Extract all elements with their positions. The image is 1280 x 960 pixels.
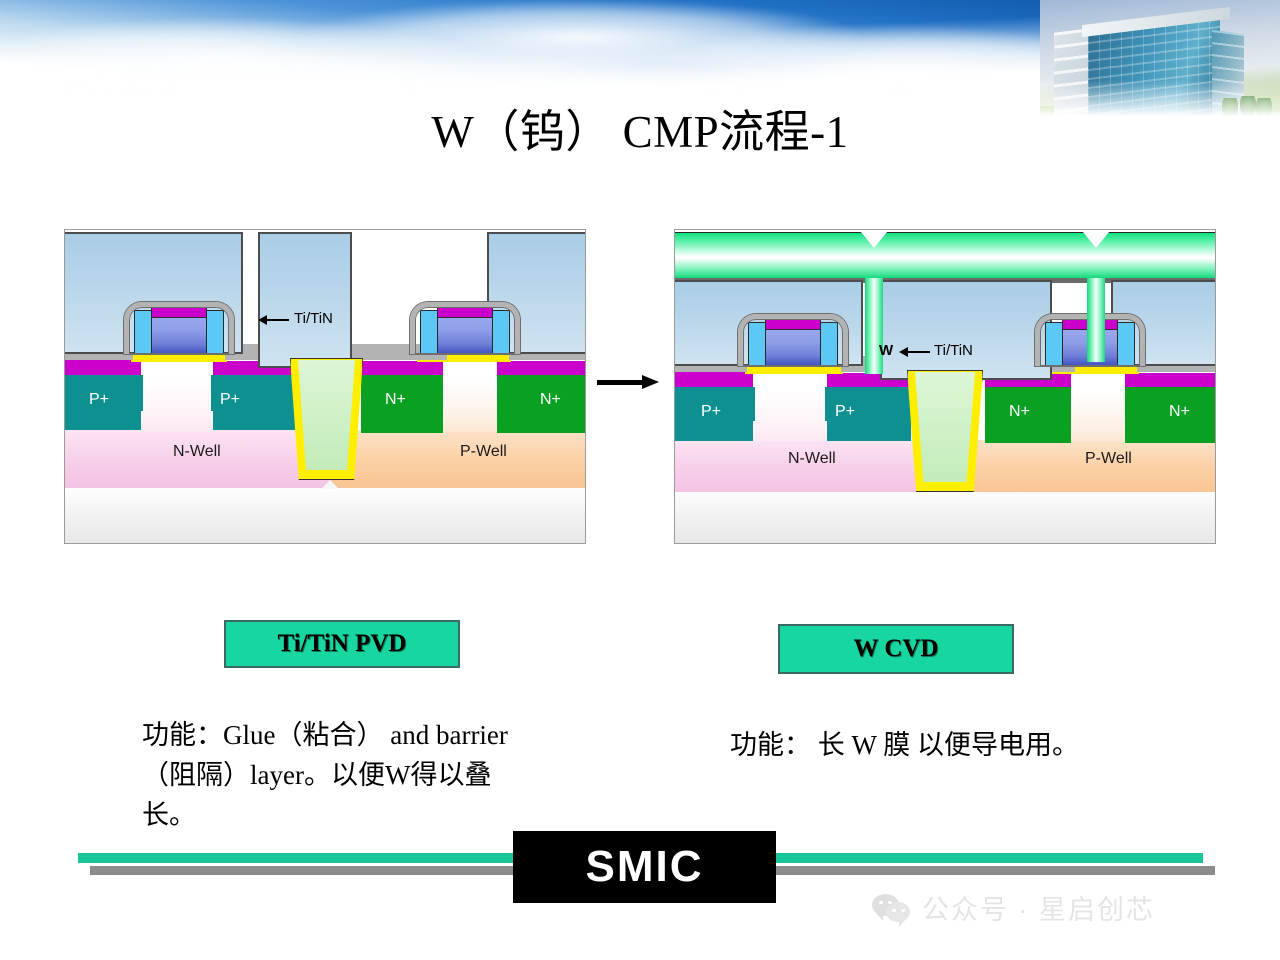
diagram-titin-pvd: Ti/TiN P+ P+ N+ N+ N-Well P-Well [64, 229, 586, 544]
n-plus-label: N+ [1169, 403, 1190, 421]
gate-liner-cap [410, 302, 520, 354]
tungsten-callout-label: W [879, 342, 893, 359]
p-plus-label: P+ [835, 403, 855, 421]
silicide-layer [65, 359, 141, 375]
n-plus-label: N+ [385, 391, 406, 409]
arrow-head [642, 375, 659, 389]
silicon-substrate [675, 485, 1215, 543]
silicide-layer [361, 361, 443, 375]
n-well-label: N-Well [788, 450, 836, 468]
wechat-watermark-text: 公众号 · 星启创芯 [922, 888, 1155, 927]
p-plus-label: P+ [220, 391, 240, 409]
process-box-titin-pvd[interactable]: Ti/TiN PVD [224, 620, 460, 668]
caption-left: 功能：Glue（粘合） and barrier （阻隔）layer。以便W得以叠… [142, 716, 542, 836]
silicide-layer [675, 372, 753, 387]
titin-arrow-shaft [265, 319, 289, 321]
wechat-dot [901, 909, 905, 913]
titin-callout-label: Ti/TiN [294, 310, 333, 327]
wechat-icon [872, 894, 912, 922]
pmos-gate-stack [124, 302, 234, 354]
p-plus-label: P+ [701, 403, 721, 421]
smic-logo-text: SMIC [586, 842, 704, 892]
silicide-layer [1125, 373, 1216, 387]
ild-oxide-block [880, 280, 1052, 380]
caption-right: 功能： 长 W 膜 以便导电用。 [730, 726, 1150, 766]
tungsten-cvd-film [675, 232, 1216, 278]
process-box-w-cvd[interactable]: W CVD [778, 624, 1014, 674]
tungsten-dimple-notch [861, 232, 887, 248]
p-plus-label: P+ [89, 391, 109, 409]
p-well-label: P-Well [1085, 450, 1132, 468]
p-well-region [951, 440, 1216, 492]
tungsten-via-plug [1087, 278, 1105, 362]
p-plus-shoulder [127, 375, 143, 411]
nwell-channel [131, 378, 223, 432]
titin-callout-label: Ti/TiN [934, 342, 973, 359]
nmos-gate-stack [410, 302, 520, 354]
smic-logo: SMIC [513, 831, 776, 903]
gate-liner-cap [738, 314, 848, 366]
p-plus-shoulder [739, 387, 755, 421]
arrow-shaft [597, 380, 643, 385]
n-plus-label: N+ [1009, 403, 1030, 421]
titin-arrow-shaft [906, 351, 930, 353]
silicide-layer [497, 361, 586, 375]
wechat-watermark: 公众号 · 星启创芯 [872, 888, 1155, 927]
sti-trench-fill [298, 360, 355, 470]
tungsten-via-plug [865, 278, 883, 374]
tungsten-dimple-notch [1083, 232, 1109, 248]
p-well-region [331, 430, 586, 488]
ild-oxide-block [258, 232, 352, 368]
sti-trench-fill [915, 372, 975, 482]
well-boundary-notch [321, 480, 339, 489]
gate-liner-cap [124, 302, 234, 354]
diagram-w-cvd: W Ti/TiN P+ P+ N+ N+ N-Well P-Well [674, 229, 1216, 544]
silicon-substrate [65, 485, 585, 543]
nwell-channel [745, 390, 837, 442]
process-flow-arrow [597, 375, 659, 389]
wechat-dot [892, 909, 896, 913]
slide-title: W（钨） CMP流程-1 [0, 95, 1280, 160]
pmos-gate-stack [738, 314, 848, 366]
wechat-bubble-small [886, 902, 910, 922]
wechat-dot [879, 901, 883, 905]
n-plus-label: N+ [540, 391, 561, 409]
n-well-label: N-Well [173, 443, 221, 461]
wechat-dot [888, 901, 892, 905]
p-well-label: P-Well [460, 443, 507, 461]
